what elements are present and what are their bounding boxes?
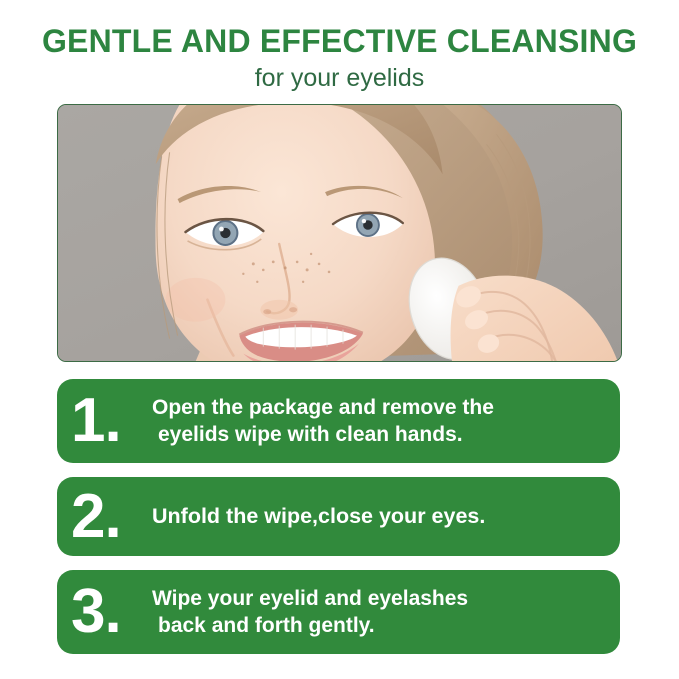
step-number-1: 1.: [57, 390, 152, 452]
page-title: GENTLE AND EFFECTIVE CLEANSING: [0, 22, 679, 60]
product-usage-photo: [57, 104, 622, 362]
step-item-1: 1. Open the package and remove the eyeli…: [57, 379, 620, 463]
header: GENTLE AND EFFECTIVE CLEANSING for your …: [0, 22, 679, 93]
step-1-line-2: eyelids wipe with clean hands.: [152, 421, 604, 448]
step-3-line-1: Wipe your eyelid and eyelashes: [152, 587, 468, 610]
step-3-line-2: back and forth gently.: [152, 612, 604, 639]
step-text-2: Unfold the wipe,close your eyes.: [152, 503, 620, 530]
step-item-3: 3. Wipe your eyelid and eyelashes back a…: [57, 570, 620, 654]
page-subtitle: for your eyelids: [0, 63, 679, 93]
photo-illustration: [58, 105, 621, 361]
step-text-3: Wipe your eyelid and eyelashes back and …: [152, 585, 620, 639]
step-item-2: 2. Unfold the wipe,close your eyes.: [57, 477, 620, 556]
step-text-1: Open the package and remove the eyelids …: [152, 394, 620, 448]
step-2-line-1: Unfold the wipe,close your eyes.: [152, 504, 485, 528]
step-1-line-1: Open the package and remove the: [152, 396, 494, 419]
step-number-2: 2.: [57, 486, 152, 548]
step-number-3: 3.: [57, 581, 152, 643]
infographic-page: GENTLE AND EFFECTIVE CLEANSING for your …: [0, 0, 679, 679]
